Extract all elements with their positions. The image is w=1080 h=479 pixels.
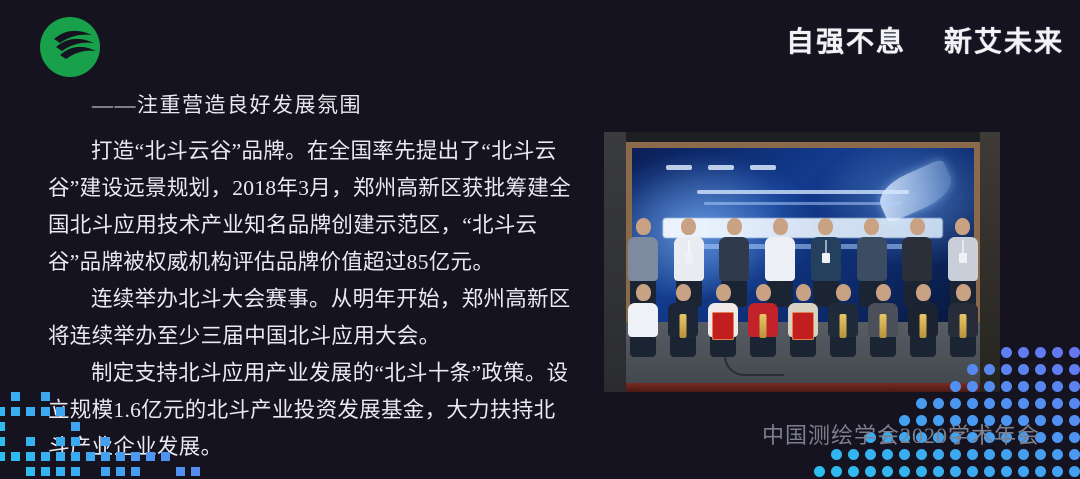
footer-watermark: 中国测绘学会2020学术年会 (762, 418, 1040, 450)
photo-person (748, 284, 778, 357)
photo-front-row (628, 284, 978, 357)
decoration-dot (1001, 398, 1012, 409)
decoration-dot (831, 449, 842, 460)
calligraphy-motto: 自强不息 新艾未来 (786, 20, 1064, 60)
decoration-dot (933, 449, 944, 460)
decoration-dot (26, 407, 35, 416)
decoration-dot (882, 466, 893, 477)
decoration-dot (0, 437, 5, 446)
backdrop-headline-line (697, 190, 909, 194)
decoration-dot (984, 466, 995, 477)
decoration-dot (1052, 466, 1063, 477)
slide-subtitle: ——注重营造良好发展氛围 (92, 89, 362, 119)
decoration-dot (1035, 347, 1046, 358)
photo-wall-left (604, 132, 626, 392)
decoration-dot (1069, 415, 1080, 426)
decoration-dot (1035, 398, 1046, 409)
decoration-dot (101, 467, 110, 476)
decoration-dot (1018, 449, 1029, 460)
decoration-dot (1035, 449, 1046, 460)
decoration-dot (1035, 381, 1046, 392)
photo-person (708, 284, 738, 357)
decoration-dot (191, 467, 200, 476)
backdrop-sponsor-logos (666, 165, 776, 170)
decoration-dot (1001, 449, 1012, 460)
photo-person (828, 284, 858, 357)
decoration-dot (1052, 415, 1063, 426)
decoration-dot (1069, 364, 1080, 375)
group-photo (604, 132, 1000, 392)
photo-person (788, 284, 818, 357)
decoration-dot (967, 449, 978, 460)
decoration-dot (831, 466, 842, 477)
decoration-dot (1001, 364, 1012, 375)
decoration-dot (1035, 364, 1046, 375)
decoration-dot (26, 437, 35, 446)
decoration-dot (1018, 381, 1029, 392)
decoration-dot (899, 466, 910, 477)
logo (40, 17, 100, 77)
decoration-dot (1018, 398, 1029, 409)
photo-person (868, 284, 898, 357)
decoration-dot (1069, 381, 1080, 392)
decoration-dot (131, 467, 140, 476)
decoration-dot (0, 422, 5, 431)
decoration-dot (933, 398, 944, 409)
backdrop-subhead-line (704, 202, 902, 205)
decoration-dot (950, 449, 961, 460)
logo-circle (40, 17, 100, 77)
decoration-dot (882, 449, 893, 460)
decoration-dot (11, 392, 20, 401)
paragraph-1: 打造“北斗云谷”品牌。在全国率先提出了“北斗云谷”建设远景规划，2018年3月，… (48, 133, 576, 281)
decoration-dot (1069, 432, 1080, 443)
decoration-dot (1069, 347, 1080, 358)
photo-person (628, 284, 658, 357)
decoration-dot (933, 466, 944, 477)
sponsor-logo-3 (750, 165, 776, 170)
decoration-dot (1052, 432, 1063, 443)
decoration-dot (916, 449, 927, 460)
photo-person (948, 284, 978, 357)
decoration-dot (984, 449, 995, 460)
decoration-dot (11, 452, 20, 461)
decoration-dot (865, 449, 876, 460)
sponsor-logo-1 (666, 165, 692, 170)
decoration-dot (1052, 398, 1063, 409)
decoration-dot (0, 452, 5, 461)
decoration-dot (967, 398, 978, 409)
decoration-dot (916, 398, 927, 409)
decoration-dot (848, 466, 859, 477)
decoration-dot (848, 449, 859, 460)
decoration-dot (71, 467, 80, 476)
decoration-dot (1001, 347, 1012, 358)
decoration-dot (1035, 466, 1046, 477)
decoration-dot (1052, 449, 1063, 460)
decoration-dot (26, 467, 35, 476)
decoration-dot (41, 467, 50, 476)
slide-root: 自强不息 新艾未来 ——注重营造良好发展氛围 打造“北斗云谷”品牌。在全国率先提… (0, 0, 1080, 479)
photo-stage-edge (626, 383, 980, 392)
sponsor-logo-2 (708, 165, 734, 170)
paragraph-3: 制定支持北斗应用产业发展的“北斗十条”政策。设立规模1.6亿元的北斗产业投资发展… (48, 355, 576, 466)
body-copy: 打造“北斗云谷”品牌。在全国率先提出了“北斗云谷”建设远景规划，2018年3月，… (48, 133, 576, 466)
decoration-dot (56, 467, 65, 476)
decoration-dot (899, 449, 910, 460)
decoration-dot (1069, 398, 1080, 409)
logo-swoosh-icon (40, 17, 100, 77)
decoration-dot (26, 452, 35, 461)
decoration-dot (176, 467, 185, 476)
decoration-dot (1052, 381, 1063, 392)
decoration-dot (1052, 364, 1063, 375)
photo-person (668, 284, 698, 357)
decoration-dot (116, 467, 125, 476)
paragraph-2: 连续举办北斗大会赛事。从明年开始，郑州高新区将连续举办至少三届中国北斗应用大会。 (48, 281, 576, 355)
decoration-dot (1052, 347, 1063, 358)
calligraphy-phrase-2: 新艾未来 (944, 27, 1064, 58)
decoration-dot (1001, 381, 1012, 392)
decoration-dot (1018, 364, 1029, 375)
decoration-dot (1018, 347, 1029, 358)
decoration-dot (865, 466, 876, 477)
decoration-dot (950, 466, 961, 477)
decoration-dot (11, 407, 20, 416)
decoration-dot (0, 407, 5, 416)
decoration-dot (1018, 466, 1029, 477)
decoration-dot (1001, 466, 1012, 477)
decoration-dot (1069, 466, 1080, 477)
decoration-dot (1069, 449, 1080, 460)
photo-content (604, 132, 1000, 392)
decoration-dot (814, 466, 825, 477)
decoration-dot (916, 466, 927, 477)
decoration-dot (984, 398, 995, 409)
calligraphy-phrase-1: 自强不息 (786, 27, 906, 58)
decoration-dot (950, 398, 961, 409)
photo-wall-right (980, 132, 1000, 392)
decoration-dot (967, 466, 978, 477)
photo-person (908, 284, 938, 357)
